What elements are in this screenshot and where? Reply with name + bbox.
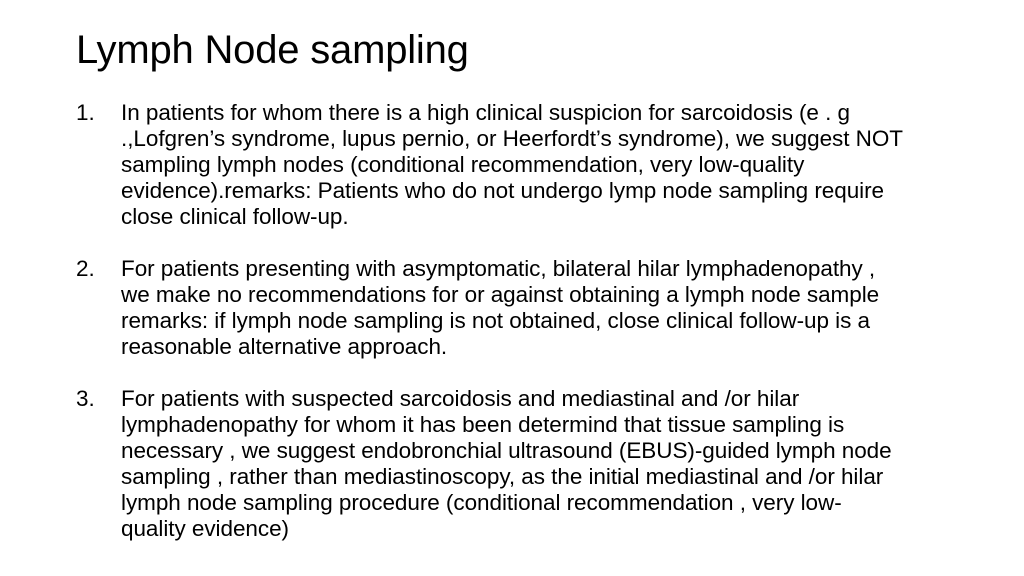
- list-item-number: 3.: [76, 386, 121, 412]
- presentation-slide: Lymph Node sampling 1. In patients for w…: [0, 0, 1024, 576]
- list-item-text: For patients presenting with asymptomati…: [121, 256, 966, 360]
- list-item: 3. For patients with suspected sarcoidos…: [76, 386, 966, 542]
- list-item-number: 2.: [76, 256, 121, 282]
- numbered-list: 1. In patients for whom there is a high …: [76, 100, 966, 542]
- list-item: 2. For patients presenting with asymptom…: [76, 256, 966, 360]
- list-item-text: For patients with suspected sarcoidosis …: [121, 386, 966, 542]
- list-item: 1. In patients for whom there is a high …: [76, 100, 966, 230]
- page-title: Lymph Node sampling: [76, 26, 976, 74]
- list-item-text: In patients for whom there is a high cli…: [121, 100, 966, 230]
- list-item-number: 1.: [76, 100, 121, 126]
